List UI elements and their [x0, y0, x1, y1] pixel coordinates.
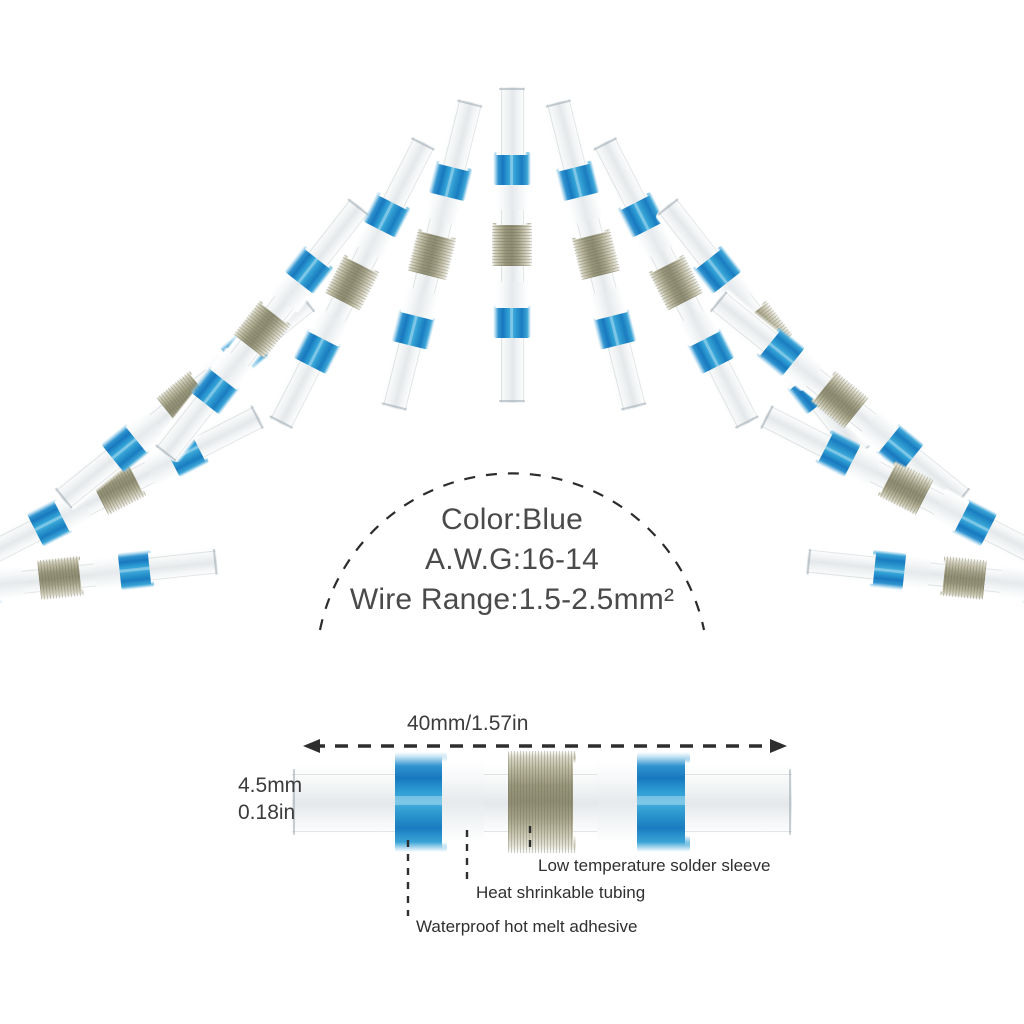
dimension-annotation-lines [0, 0, 1024, 1024]
callout-label-tubing: Heat shrinkable tubing [476, 883, 645, 903]
product-image-canvas: Color:Blue A.W.G:16-14 Wire Range:1.5-2.… [0, 0, 1024, 1024]
diameter-dimension-label-in: 0.18in [238, 799, 295, 826]
callout-label-adhesive: Waterproof hot melt adhesive [416, 917, 637, 937]
arrowhead-right [770, 739, 787, 753]
arrowhead-left [303, 739, 320, 753]
length-dimension-label: 40mm/1.57in [407, 710, 528, 737]
diameter-dimension-label-mm: 4.5mm [238, 772, 302, 799]
callout-label-solder: Low temperature solder sleeve [538, 856, 770, 876]
